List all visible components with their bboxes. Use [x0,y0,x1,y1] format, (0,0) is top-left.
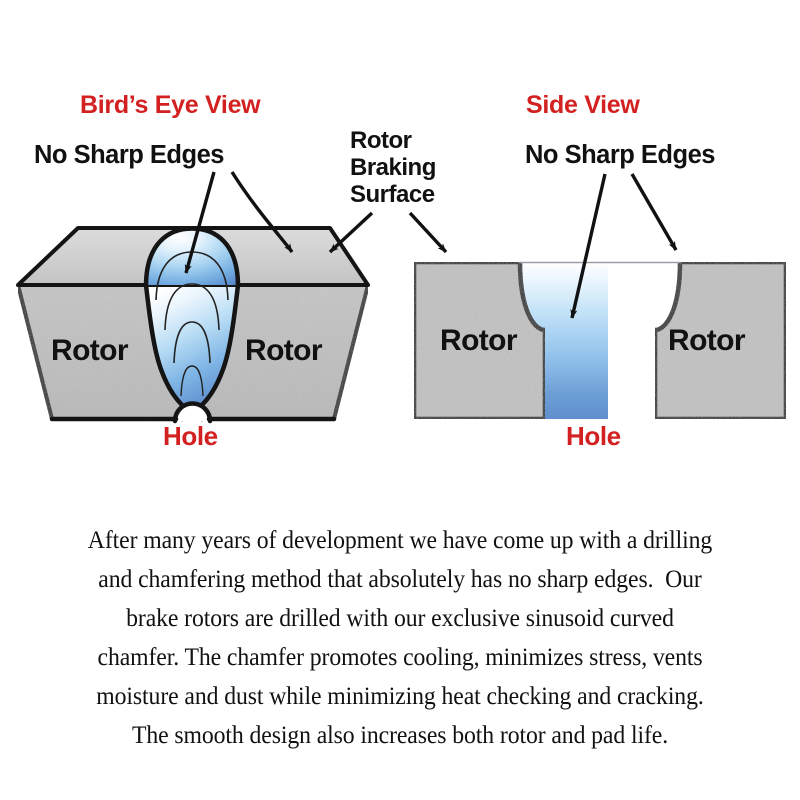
side-view-group: Rotor Rotor Side View No Sharp Edges Hol… [414,91,786,451]
birds-eye-rotor-label-left: Rotor [51,334,129,367]
rotor-braking-surface-line2: Braking [350,154,436,181]
body-line-4: chamfer. The chamfer promotes cooling, m… [28,637,772,676]
rotor-braking-surface-arrow-right [410,213,446,252]
rotor-braking-surface-line1: Rotor [350,127,412,154]
birds-eye-no-sharp-edges-label: No Sharp Edges [34,141,224,169]
birds-eye-hole-label: Hole [163,421,218,451]
side-view-heading: Side View [526,91,640,119]
birds-eye-heading: Bird’s Eye View [80,91,261,119]
rotor-braking-surface-callout: Rotor Braking Surface [330,127,446,252]
side-view-rotor-label-right: Rotor [668,324,746,357]
rotor-braking-surface-arrow-left [330,213,372,252]
birds-eye-rotor-label-right: Rotor [245,334,323,367]
body-line-2: and chamfering method that absolutely ha… [28,559,772,598]
body-paragraph: After many years of development we have … [28,520,772,754]
diagram-page: Rotor Rotor Bird’s Eye View No Sharp Edg… [0,0,800,800]
side-view-no-sharp-edges-arrow-right [632,174,676,250]
birds-eye-view-group: Rotor Rotor Bird’s Eye View No Sharp Edg… [18,91,368,451]
side-view-no-sharp-edges-label: No Sharp Edges [525,141,715,169]
body-line-6: The smooth design also increases both ro… [28,715,772,754]
body-line-3: brake rotors are drilled with our exclus… [28,598,772,637]
body-line-1: After many years of development we have … [28,520,772,559]
side-view-hole-label: Hole [566,421,621,451]
body-line-5: moisture and dust while minimizing heat … [28,676,772,715]
rotor-braking-surface-line3: Surface [350,181,435,208]
side-view-rotor-label-left: Rotor [440,324,518,357]
